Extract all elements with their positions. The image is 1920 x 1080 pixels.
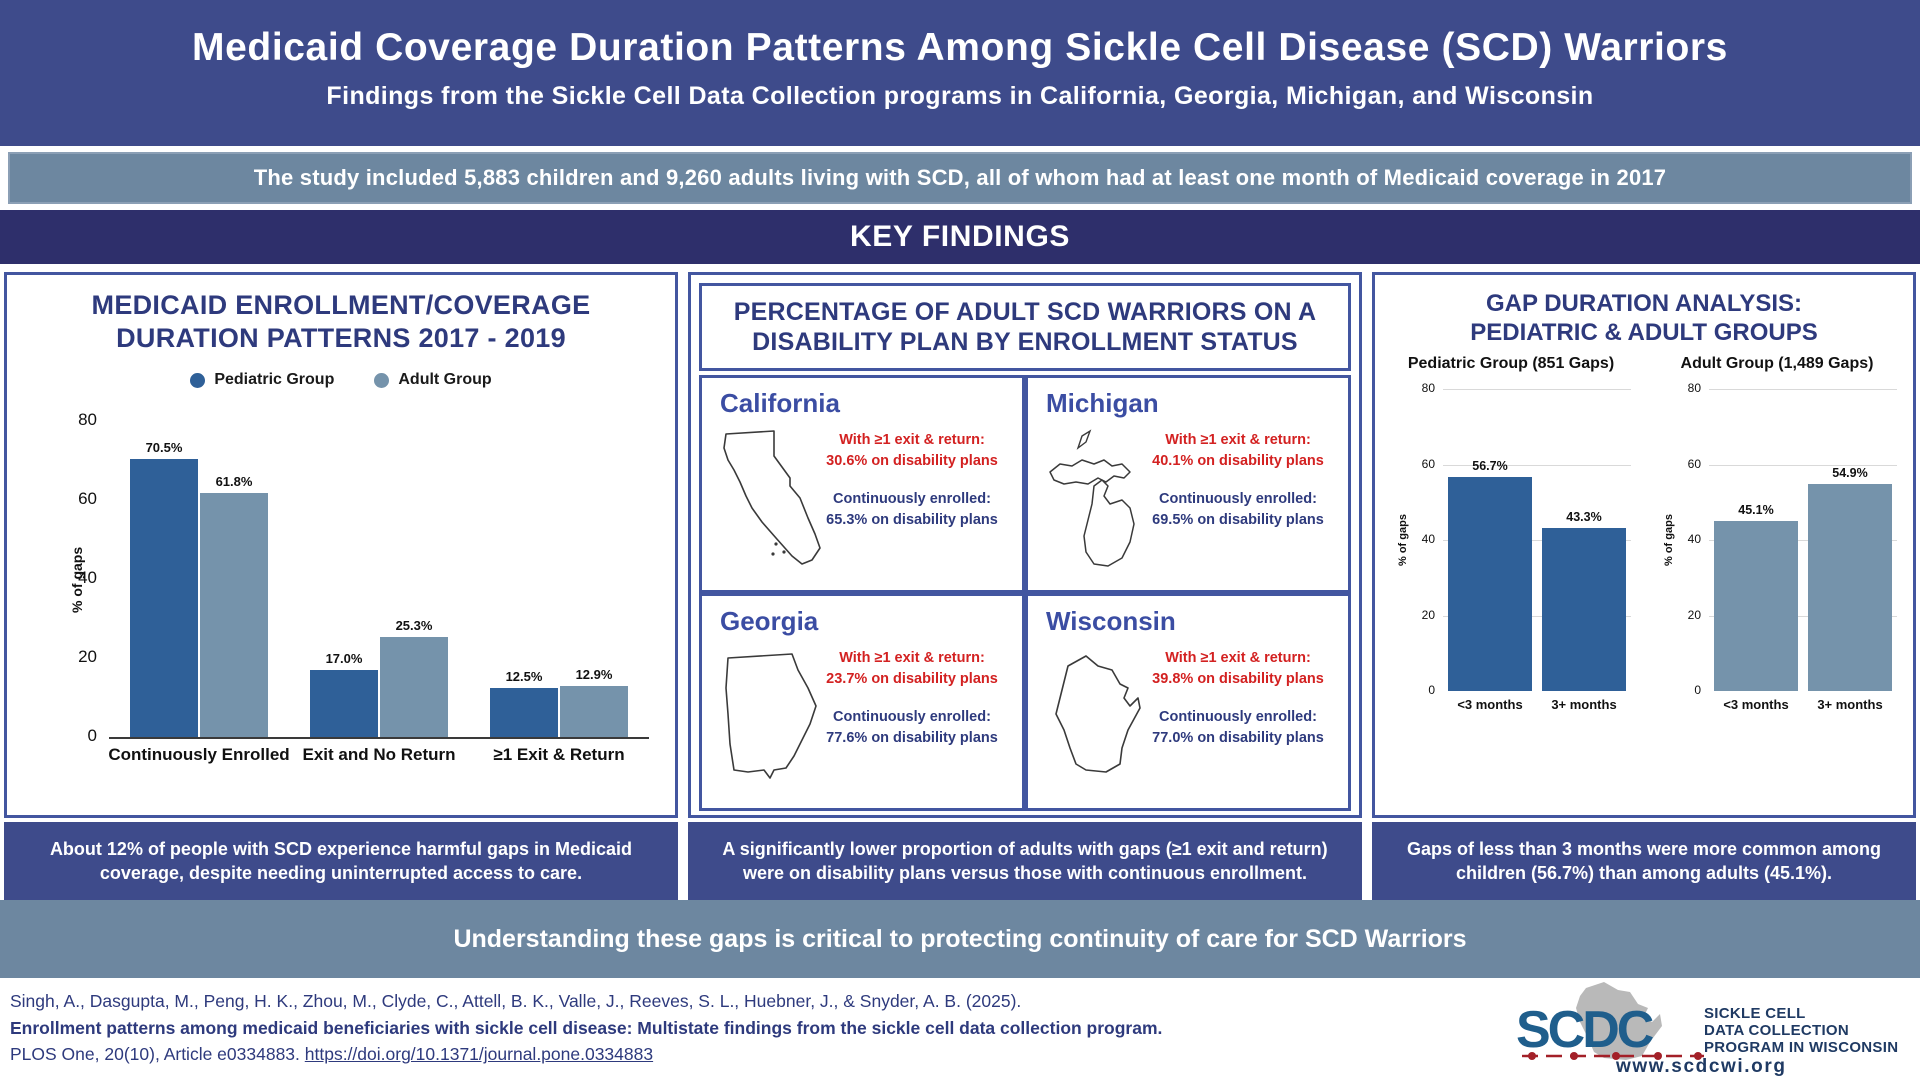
y-axis-tick: 0 [57,726,97,746]
left-panel-title-line2: DURATION PATTERNS 2017 - 2019 [7,322,675,355]
chart-legend: Pediatric Group Adult Group [7,371,675,389]
exit-return-value-california: 30.6% on disability plans [812,451,1012,472]
y-axis-tick: 80 [57,410,97,430]
citation-authors: Singh, A., Dasgupta, M., Peng, H. K., Zh… [10,991,1021,1011]
wisconsin-outline-icon [1042,644,1152,799]
bar-value-label: 54.9% [1798,466,1902,480]
y-axis-tick: 80 [1675,381,1701,395]
caption-mid-text: A significantly lower proportion of adul… [704,837,1346,886]
state-stats-california: With ≥1 exit & return: 30.6% on disabili… [812,430,1012,531]
y-axis-tick: 40 [1675,532,1701,546]
left-panel-title-line1: MEDICAID ENROLLMENT/COVERAGE [7,289,675,322]
bar-value-label: 70.5% [122,440,206,455]
chart-gridline [1443,389,1631,390]
exit-return-label-california: With ≥1 exit & return: [812,430,1012,451]
bar-value-label: 43.3% [1532,510,1636,524]
bar-value-label: 25.3% [372,618,456,633]
exit-return-stat-michigan: With ≥1 exit & return: 40.1% on disabili… [1138,430,1338,472]
y-axis-tick: 60 [1409,457,1435,471]
exit-return-value-georgia: 23.7% on disability plans [812,669,1012,690]
y-axis-title: % of gaps [1663,514,1675,566]
citation-journal: PLOS One, 20(10), Article e0334883. [10,1044,305,1064]
exit-return-label-michigan: With ≥1 exit & return: [1138,430,1338,451]
state-name-georgia: Georgia [720,606,818,637]
continuous-label-michigan: Continuously enrolled: [1138,489,1338,510]
enrollment-duration-bar-chart: % of gaps02040608070.5%61.8%Continuously… [7,397,675,815]
legend-label-pediatric: Pediatric Group [214,371,334,389]
scdc-logo-line1: SICKLE CELL [1704,1006,1898,1023]
key-findings-banner: KEY FINDINGS [0,210,1920,264]
bar-value-label: 12.9% [552,667,636,682]
state-card-michigan: Michigan With ≥1 exit & return: 40.1% on… [1025,375,1351,593]
bar-adult [380,637,448,737]
continuous-label-wisconsin: Continuously enrolled: [1138,707,1338,728]
scdc-logo-lines: SICKLE CELL DATA COLLECTION PROGRAM IN W… [1704,1006,1898,1056]
right-panel-title: GAP DURATION ANALYSIS: PEDIATRIC & ADULT… [1375,289,1913,348]
legend-color-dot-adult [374,373,389,388]
caption-mid: A significantly lower proportion of adul… [688,822,1362,900]
caption-left-text: About 12% of people with SCD experience … [20,837,662,886]
continuous-stat-georgia: Continuously enrolled: 77.6% on disabili… [812,707,1012,749]
bar-3-months [1542,528,1626,691]
poster-footer: Singh, A., Dasgupta, M., Peng, H. K., Zh… [0,978,1920,1080]
x-axis-baseline [109,737,649,739]
bar-pediatric [310,670,378,737]
caption-right-text: Gaps of less than 3 months were more com… [1388,837,1900,886]
x-axis-category-label: 3+ months [1790,697,1910,712]
panel-enrollment-duration: MEDICAID ENROLLMENT/COVERAGE DURATION PA… [4,272,678,818]
continuous-label-georgia: Continuously enrolled: [812,707,1012,728]
continuous-stat-california: Continuously enrolled: 65.3% on disabili… [812,489,1012,531]
y-axis-tick: 80 [1409,381,1435,395]
state-name-michigan: Michigan [1046,388,1159,419]
state-card-georgia: Georgia With ≥1 exit & return: 23.7% on … [699,593,1025,811]
study-description-banner: The study included 5,883 children and 9,… [8,152,1912,204]
continuous-stat-michigan: Continuously enrolled: 69.5% on disabili… [1138,489,1338,531]
caption-left: About 12% of people with SCD experience … [4,822,678,900]
exit-return-label-wisconsin: With ≥1 exit & return: [1138,648,1338,669]
y-axis-tick: 0 [1675,683,1701,697]
right-panel-title-line1: GAP DURATION ANALYSIS: [1375,289,1913,318]
exit-return-stat-california: With ≥1 exit & return: 30.6% on disabili… [812,430,1012,472]
bar--3-months [1714,521,1798,691]
scdc-website-url[interactable]: www.scdcwi.org [1616,1056,1787,1078]
state-name-wisconsin: Wisconsin [1046,606,1176,637]
continuous-value-california: 65.3% on disability plans [812,510,1012,531]
state-stats-michigan: With ≥1 exit & return: 40.1% on disabili… [1138,430,1338,531]
page-title: Medicaid Coverage Duration Patterns Amon… [0,26,1920,70]
citation: Singh, A., Dasgupta, M., Peng, H. K., Zh… [10,988,1190,1068]
x-axis-category-label: ≥1 Exit & Return [439,745,679,765]
page-subtitle: Findings from the Sickle Cell Data Colle… [0,82,1920,111]
exit-return-label-georgia: With ≥1 exit & return: [812,648,1012,669]
bar-value-label: 61.8% [192,474,276,489]
legend-item-adult: Adult Group [374,371,491,389]
y-axis-tick: 40 [57,568,97,588]
bar-value-label: 45.1% [1704,503,1808,517]
legend-item-pediatric: Pediatric Group [190,371,334,389]
y-axis-tick: 60 [1675,457,1701,471]
key-findings-label: KEY FINDINGS [850,220,1070,254]
y-axis-tick: 0 [1409,683,1435,697]
bar-pediatric [490,688,558,737]
scdc-logo-line2: DATA COLLECTION [1704,1023,1898,1040]
sub-chart-title: Adult Group (1,489 Gaps) [1647,355,1907,373]
legend-label-adult: Adult Group [398,371,491,389]
citation-title: Enrollment patterns among medicaid benef… [10,1018,1162,1038]
continuous-label-california: Continuously enrolled: [812,489,1012,510]
state-card-california: California With ≥1 exit & return: 30.6% … [699,375,1025,593]
state-stats-georgia: With ≥1 exit & return: 23.7% on disabili… [812,648,1012,749]
exit-return-stat-georgia: With ≥1 exit & return: 23.7% on disabili… [812,648,1012,690]
x-axis-category-label: 3+ months [1524,697,1644,712]
state-stats-wisconsin: With ≥1 exit & return: 39.8% on disabili… [1138,648,1338,749]
left-panel-title: MEDICAID ENROLLMENT/COVERAGE DURATION PA… [7,289,675,355]
caption-right: Gaps of less than 3 months were more com… [1372,822,1916,900]
continuous-value-georgia: 77.6% on disability plans [812,728,1012,749]
continuous-value-wisconsin: 77.0% on disability plans [1138,728,1338,749]
state-card-wisconsin: Wisconsin With ≥1 exit & return: 39.8% o… [1025,593,1351,811]
tagline-text: Understanding these gaps is critical to … [453,925,1466,954]
sub-chart-title: Pediatric Group (851 Gaps) [1381,355,1641,373]
bar-3-months [1808,484,1892,691]
chart-gridline [1709,389,1897,390]
continuous-stat-wisconsin: Continuously enrolled: 77.0% on disabili… [1138,707,1338,749]
bar--3-months [1448,477,1532,691]
panel-gap-duration: GAP DURATION ANALYSIS: PEDIATRIC & ADULT… [1372,272,1916,818]
scdc-logo-line3: PROGRAM IN WISCONSIN [1704,1040,1898,1057]
citation-doi-link[interactable]: https://doi.org/10.1371/journal.pone.033… [305,1044,653,1064]
bar-value-label: 17.0% [302,651,386,666]
mid-panel-title-box: PERCENTAGE OF ADULT SCD WARRIORS ON A DI… [699,283,1351,371]
study-description-text: The study included 5,883 children and 9,… [254,165,1667,191]
bar-value-label: 56.7% [1438,459,1542,473]
bar-pediatric [130,459,198,737]
legend-color-dot-pediatric [190,373,205,388]
poster-header: Medicaid Coverage Duration Patterns Amon… [0,0,1920,146]
scdc-logo: SCDC SICKLE CELL DATA COLLECTION PROGRAM… [1508,982,1908,1078]
tagline-banner: Understanding these gaps is critical to … [0,900,1920,978]
y-axis-tick: 20 [1675,608,1701,622]
exit-return-value-wisconsin: 39.8% on disability plans [1138,669,1338,690]
continuous-value-michigan: 69.5% on disability plans [1138,510,1338,531]
gap-duration-charts: Pediatric Group (851 Gaps)020406080% of … [1375,351,1913,813]
infographic-poster: Medicaid Coverage Duration Patterns Amon… [0,0,1920,1080]
mid-panel-title: PERCENTAGE OF ADULT SCD WARRIORS ON A DI… [702,297,1348,358]
y-axis-tick: 60 [57,489,97,509]
exit-return-value-michigan: 40.1% on disability plans [1138,451,1338,472]
panel-disability-plans: PERCENTAGE OF ADULT SCD WARRIORS ON A DI… [688,272,1362,818]
y-axis-tick: 20 [57,647,97,667]
exit-return-stat-wisconsin: With ≥1 exit & return: 39.8% on disabili… [1138,648,1338,690]
bar-adult [200,493,268,737]
california-outline-icon [716,426,821,581]
georgia-outline-icon [716,644,826,799]
y-axis-title: % of gaps [1397,514,1409,566]
bar-adult [560,686,628,737]
y-axis-tick: 20 [1409,608,1435,622]
right-panel-title-line2: PEDIATRIC & ADULT GROUPS [1375,318,1913,347]
state-name-california: California [720,388,840,419]
y-axis-tick: 40 [1409,532,1435,546]
